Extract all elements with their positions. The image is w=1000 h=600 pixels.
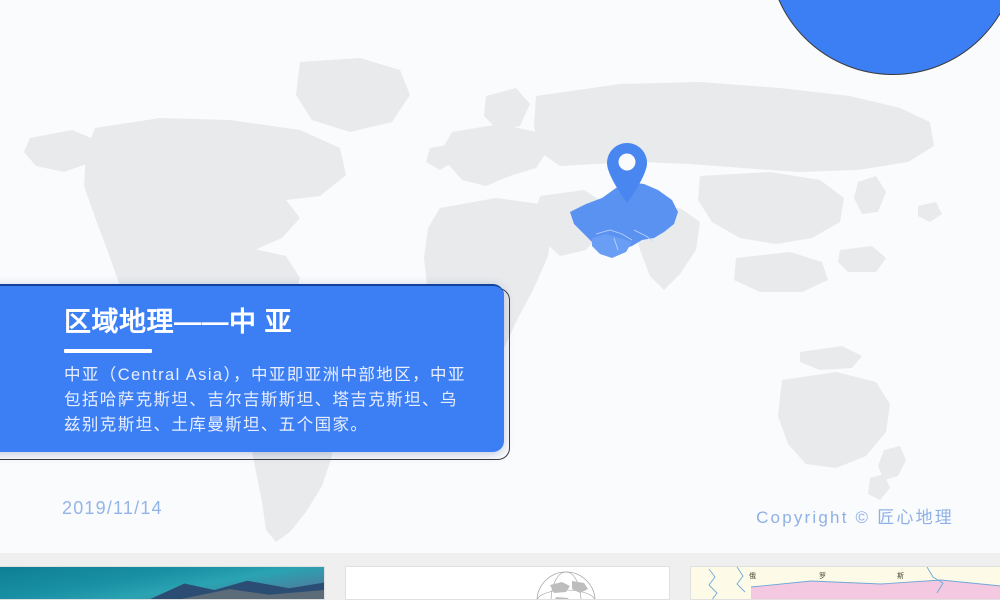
slide-date: 2019/11/14 — [62, 498, 163, 519]
thumbnail-strip: 俄 罗 斯 — [0, 553, 1000, 600]
thumb3-label-2: 斯 — [897, 571, 905, 581]
thumbnail-slide-2[interactable] — [345, 566, 670, 600]
thumbnail-slide-1[interactable] — [0, 566, 325, 600]
card-title: 区域地理——中 亚 — [64, 308, 470, 338]
map-pin-icon — [606, 142, 648, 204]
world-map-background — [0, 0, 1000, 553]
central-asia-highlight — [562, 142, 692, 272]
thumb1-mountains — [0, 577, 324, 599]
thumb3-label-1: 罗 — [819, 571, 827, 581]
thumb3-russia-map: 俄 罗 斯 — [691, 567, 1000, 599]
thumb3-map-shapes — [691, 567, 1000, 600]
title-underline — [64, 349, 152, 353]
thumb3-label-0: 俄 — [749, 571, 757, 581]
thumbnail-slide-3[interactable]: 俄 罗 斯 — [690, 566, 1000, 600]
card-body-text: 中亚（Central Asia），中亚即亚洲中部地区，中亚包括哈萨克斯坦、吉尔吉… — [64, 363, 468, 438]
presentation-stage: 区域地理——中 亚 中亚（Central Asia），中亚即亚洲中部地区，中亚包… — [0, 0, 1000, 600]
thumb2-globe-icon — [346, 567, 670, 600]
slide-canvas: 区域地理——中 亚 中亚（Central Asia），中亚即亚洲中部地区，中亚包… — [0, 0, 1000, 553]
slide-copyright: Copyright © 匠心地理 — [756, 503, 954, 528]
info-card: 区域地理——中 亚 中亚（Central Asia），中亚即亚洲中部地区，中亚包… — [0, 284, 504, 452]
